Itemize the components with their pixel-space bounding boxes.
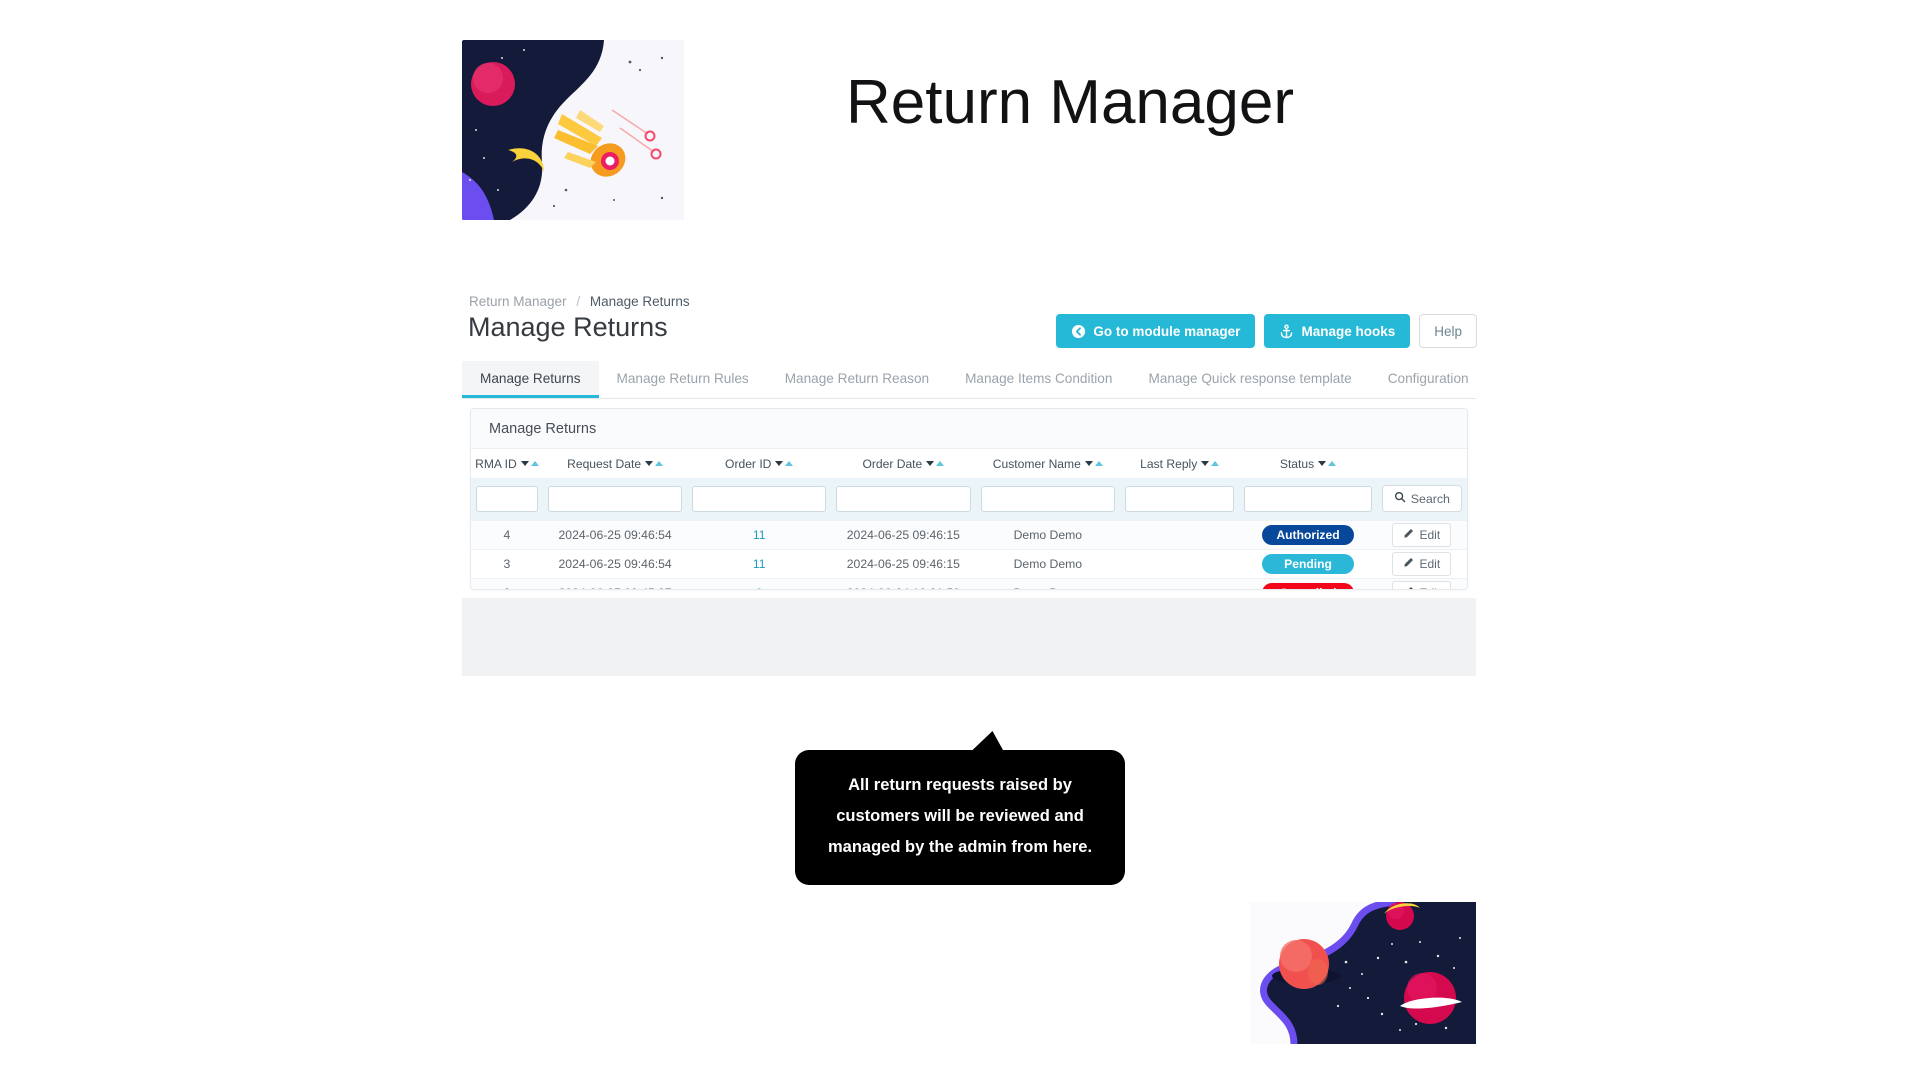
cell-customer-name: Demo Demo (976, 549, 1120, 578)
cell-last-reply (1120, 578, 1239, 590)
cell-status: Cancelled (1239, 578, 1376, 590)
cell-status: Pending (1239, 549, 1376, 578)
sort-carets[interactable] (1085, 461, 1103, 466)
column-header-status[interactable]: Status (1239, 449, 1376, 478)
order-id-link[interactable]: 9 (756, 586, 763, 591)
caret-down-icon[interactable] (926, 461, 934, 466)
go-to-module-manager-button[interactable]: Go to module manager (1056, 314, 1255, 348)
order-id-link[interactable]: 11 (753, 557, 766, 571)
caret-down-icon[interactable] (645, 461, 653, 466)
caret-up-icon[interactable] (1095, 461, 1103, 466)
cell-request-date: 2024-06-25 09:46:54 (543, 520, 687, 549)
search-input-last-reply[interactable] (1125, 486, 1234, 512)
page-body: Return Manager / Manage Returns Manage R… (462, 286, 1476, 828)
cell-order-date: 2024-06-24 10:21:50 (831, 578, 975, 590)
table-row[interactable]: 4 2024-06-25 09:46:54 11 2024-06-25 09:4… (471, 520, 1467, 549)
cell-actions: Edit (1377, 578, 1467, 590)
status-badge: Pending (1262, 554, 1354, 574)
search-input-customer-name[interactable] (981, 486, 1115, 512)
cell-order-id: 11 (687, 520, 831, 549)
breadcrumb: Return Manager / Manage Returns (469, 294, 690, 309)
tab-manage-return-reason[interactable]: Manage Return Reason (767, 361, 947, 398)
cell-rma-id: 4 (471, 520, 543, 549)
tab-label: Manage Items Condition (965, 371, 1112, 386)
cell-request-date: 2024-06-25 09:45:37 (543, 578, 687, 590)
sort-carets[interactable] (645, 461, 663, 466)
caret-up-icon[interactable] (1328, 461, 1336, 466)
filter-cell-order-id (687, 478, 831, 520)
caret-up-icon[interactable] (655, 461, 663, 466)
header-actions: Go to module manager Manage hooks Help (1056, 314, 1477, 348)
column-header-request-date[interactable]: Request Date (543, 449, 687, 478)
column-label: Customer Name (993, 457, 1081, 471)
caret-down-icon[interactable] (775, 461, 783, 466)
column-header-actions (1377, 449, 1467, 478)
tooltip-arrow (972, 731, 1009, 751)
tab-label: Manage Return Rules (617, 371, 749, 386)
column-label: Last Reply (1140, 457, 1197, 471)
caret-down-icon[interactable] (1085, 461, 1093, 466)
breadcrumb-current: Manage Returns (590, 294, 690, 309)
go-to-module-manager-label: Go to module manager (1093, 324, 1240, 339)
space-comet-illustration (462, 40, 684, 220)
column-label: Status (1280, 457, 1314, 471)
breadcrumb-separator: / (576, 294, 580, 309)
edit-button-label: Edit (1419, 557, 1440, 571)
tooltip-text: All return requests raised by customers … (828, 776, 1092, 856)
column-header-order-id[interactable]: Order ID (687, 449, 831, 478)
filter-cell-request-date (543, 478, 687, 520)
table-row[interactable]: 2 2024-06-25 09:45:37 9 2024-06-24 10:21… (471, 578, 1467, 590)
onboarding-tooltip: All return requests raised by customers … (795, 750, 1125, 885)
search-input-order-id[interactable] (692, 486, 826, 512)
cell-order-date: 2024-06-25 09:46:15 (831, 549, 975, 578)
caret-down-icon[interactable] (1318, 461, 1326, 466)
table-header-row: RMA ID Request Date Order ID Order Date … (471, 449, 1467, 478)
pencil-icon (1403, 557, 1414, 571)
manage-hooks-label: Manage hooks (1301, 324, 1395, 339)
cell-actions: Edit (1377, 520, 1467, 549)
filter-cell-status (1239, 478, 1376, 520)
column-header-last-reply[interactable]: Last Reply (1120, 449, 1239, 478)
tab-bar: Manage Returns Manage Return Rules Manag… (462, 361, 1476, 399)
search-button-label: Search (1411, 492, 1450, 506)
table-row[interactable]: 3 2024-06-25 09:46:54 11 2024-06-25 09:4… (471, 549, 1467, 578)
help-label: Help (1434, 324, 1462, 339)
filter-cell-order-date (831, 478, 975, 520)
tab-manage-quick-response-template[interactable]: Manage Quick response template (1130, 361, 1369, 398)
cell-customer-name: Demo Demo (976, 578, 1120, 590)
caret-up-icon[interactable] (936, 461, 944, 466)
tab-manage-return-rules[interactable]: Manage Return Rules (599, 361, 767, 398)
column-label: Order ID (725, 457, 771, 471)
page-hero-title: Return Manager (700, 62, 1440, 144)
search-icon (1394, 491, 1406, 506)
sort-carets[interactable] (1318, 461, 1336, 466)
edit-button-label: Edit (1419, 586, 1440, 591)
search-input-request-date[interactable] (548, 486, 682, 512)
anchor-icon (1279, 324, 1294, 339)
cell-last-reply (1120, 549, 1239, 578)
tab-configuration[interactable]: Configuration (1370, 361, 1487, 398)
filter-cell-search: Search (1377, 478, 1467, 520)
search-input-status[interactable] (1244, 486, 1371, 512)
tab-label: Manage Return Reason (785, 371, 929, 386)
filter-cell-rma-id (471, 478, 543, 520)
panel-header: Manage Returns (471, 409, 1467, 449)
tab-label: Manage Quick response template (1148, 371, 1351, 386)
caret-up-icon[interactable] (1211, 461, 1219, 466)
table-filter-row: Search (471, 478, 1467, 520)
caret-up-icon[interactable] (785, 461, 793, 466)
sort-carets[interactable] (521, 461, 539, 466)
cell-order-id: 9 (687, 578, 831, 590)
pencil-icon (1403, 586, 1414, 591)
cell-last-reply (1120, 520, 1239, 549)
cell-status: Authorized (1239, 520, 1376, 549)
sort-carets[interactable] (775, 461, 793, 466)
search-input-rma-id[interactable] (476, 486, 538, 512)
order-id-link[interactable]: 11 (753, 528, 766, 542)
edit-button[interactable]: Edit (1392, 552, 1451, 576)
cell-rma-id: 2 (471, 578, 543, 590)
column-label: Order Date (862, 457, 922, 471)
help-button[interactable]: Help (1419, 314, 1477, 348)
page-title: Manage Returns (468, 312, 668, 343)
returns-table: RMA ID Request Date Order ID Order Date … (471, 449, 1467, 590)
column-label: Request Date (567, 457, 641, 471)
search-button[interactable]: Search (1382, 485, 1462, 512)
cell-order-id: 11 (687, 549, 831, 578)
cell-request-date: 2024-06-25 09:46:54 (543, 549, 687, 578)
caret-down-icon[interactable] (521, 461, 529, 466)
pencil-icon (1403, 528, 1414, 542)
column-header-rma-id[interactable]: RMA ID (471, 449, 543, 478)
cell-actions: Edit (1377, 549, 1467, 578)
edit-button[interactable]: Edit (1392, 581, 1451, 591)
column-header-order-date[interactable]: Order Date (831, 449, 975, 478)
manage-returns-panel: Manage Returns RMA ID Request Date Order… (470, 408, 1468, 590)
cell-order-date: 2024-06-25 09:46:15 (831, 520, 975, 549)
tab-label: Manage Returns (480, 371, 581, 386)
tab-manage-items-condition[interactable]: Manage Items Condition (947, 361, 1130, 398)
status-badge: Cancelled (1262, 583, 1354, 591)
back-circle-icon (1071, 324, 1086, 339)
screenshot-root: Return Manager Return Manager / Manage R… (0, 0, 1920, 1080)
column-header-customer-name[interactable]: Customer Name (976, 449, 1120, 478)
edit-button[interactable]: Edit (1392, 523, 1451, 547)
sort-carets[interactable] (926, 461, 944, 466)
search-input-order-date[interactable] (836, 486, 970, 512)
space-planets-illustration (1250, 902, 1476, 1044)
caret-down-icon[interactable] (1201, 461, 1209, 466)
tab-label: Configuration (1388, 371, 1469, 386)
breadcrumb-parent[interactable]: Return Manager (469, 294, 567, 309)
sort-carets[interactable] (1201, 461, 1219, 466)
filter-cell-last-reply (1120, 478, 1239, 520)
manage-hooks-button[interactable]: Manage hooks (1264, 314, 1410, 348)
caret-up-icon[interactable] (531, 461, 539, 466)
status-badge: Authorized (1262, 525, 1354, 545)
edit-button-label: Edit (1419, 528, 1440, 542)
column-label: RMA ID (475, 457, 517, 471)
cell-customer-name: Demo Demo (976, 520, 1120, 549)
returns-table-body: 4 2024-06-25 09:46:54 11 2024-06-25 09:4… (471, 520, 1467, 590)
tab-manage-returns[interactable]: Manage Returns (462, 361, 599, 398)
cell-rma-id: 3 (471, 549, 543, 578)
page-footer-area (462, 598, 1476, 676)
filter-cell-customer-name (976, 478, 1120, 520)
